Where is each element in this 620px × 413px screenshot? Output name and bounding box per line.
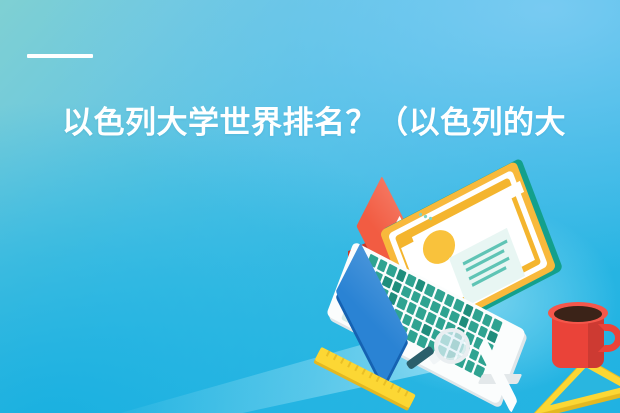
- accent-rule: [27, 54, 93, 58]
- magnifying-glass-icon: [434, 328, 470, 364]
- education-illustration: [330, 196, 620, 413]
- coffee-liquid: [554, 306, 602, 322]
- mug-handle: [598, 324, 620, 352]
- page-title: 以色列大学世界排名？（以色列的大: [62, 104, 620, 142]
- article-cover-banner: 以色列大学世界排名？（以色列的大: [0, 0, 620, 413]
